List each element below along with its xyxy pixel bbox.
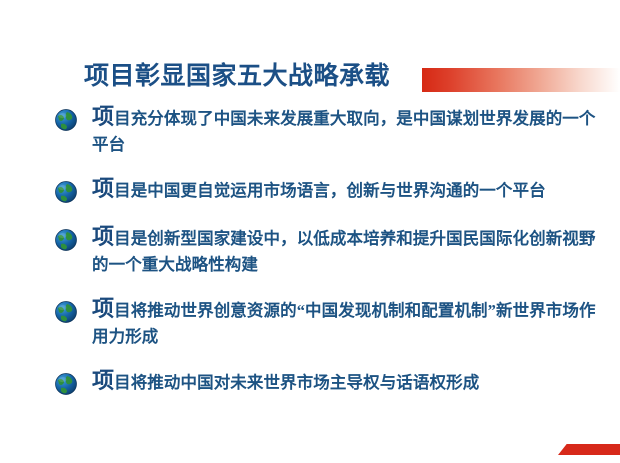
lead-character: 项 xyxy=(92,368,114,393)
globe-icon xyxy=(54,300,78,324)
list-item-body: 目是创新型国家建设中，以低成本培养和提升国民国际化创新视野的一个重大战略性构建 xyxy=(92,229,596,274)
list-item-text: 项目是创新型国家建设中，以低成本培养和提升国民国际化创新视野的一个重大战略性构建 xyxy=(92,224,600,278)
list-item-text: 项目充分体现了中国未来发展重大取向，是中国谋划世界发展的一个平台 xyxy=(92,104,600,158)
lead-character: 项 xyxy=(92,104,114,129)
list-item-body: 目将推动世界创意资源的“中国发现机制和配置机制”新世界市场作用力形成 xyxy=(92,301,596,346)
lead-character: 项 xyxy=(92,296,114,321)
list-item: 项目是创新型国家建设中，以低成本培养和提升国民国际化创新视野的一个重大战略性构建 xyxy=(0,224,620,278)
title-area: 项目彰显国家五大战略承载 xyxy=(0,30,620,72)
globe-icon xyxy=(54,108,78,132)
list-item: 项目充分体现了中国未来发展重大取向，是中国谋划世界发展的一个平台 xyxy=(0,104,620,158)
bullet-list: 项目充分体现了中国未来发展重大取向，是中国谋划世界发展的一个平台 项目是中国更自… xyxy=(0,104,620,416)
page-title: 项目彰显国家五大战略承载 xyxy=(84,62,390,92)
list-item-body: 目将推动中国对未来世界市场主导权与话语权形成 xyxy=(114,373,479,392)
title-gradient-bar xyxy=(422,68,620,92)
corner-accent-shape xyxy=(558,444,620,455)
list-item-text: 项目将推动中国对未来世界市场主导权与话语权形成 xyxy=(92,368,600,396)
lead-character: 项 xyxy=(92,224,114,249)
lead-character: 项 xyxy=(92,176,114,201)
globe-icon xyxy=(54,180,78,204)
list-item: 项目将推动世界创意资源的“中国发现机制和配置机制”新世界市场作用力形成 xyxy=(0,296,620,350)
globe-icon xyxy=(54,372,78,396)
globe-icon xyxy=(54,228,78,252)
list-item-body: 目充分体现了中国未来发展重大取向，是中国谋划世界发展的一个平台 xyxy=(92,109,596,154)
list-item-body: 目是中国更自觉运用市场语言，创新与世界沟通的一个平台 xyxy=(114,181,546,200)
list-item: 项目是中国更自觉运用市场语言，创新与世界沟通的一个平台 xyxy=(0,176,620,206)
list-item-text: 项目是中国更自觉运用市场语言，创新与世界沟通的一个平台 xyxy=(92,176,600,204)
list-item: 项目将推动中国对未来世界市场主导权与话语权形成 xyxy=(0,368,620,398)
presentation-slide: 项目彰显国家五大战略承载 xyxy=(0,0,620,463)
list-item-text: 项目将推动世界创意资源的“中国发现机制和配置机制”新世界市场作用力形成 xyxy=(92,296,600,350)
